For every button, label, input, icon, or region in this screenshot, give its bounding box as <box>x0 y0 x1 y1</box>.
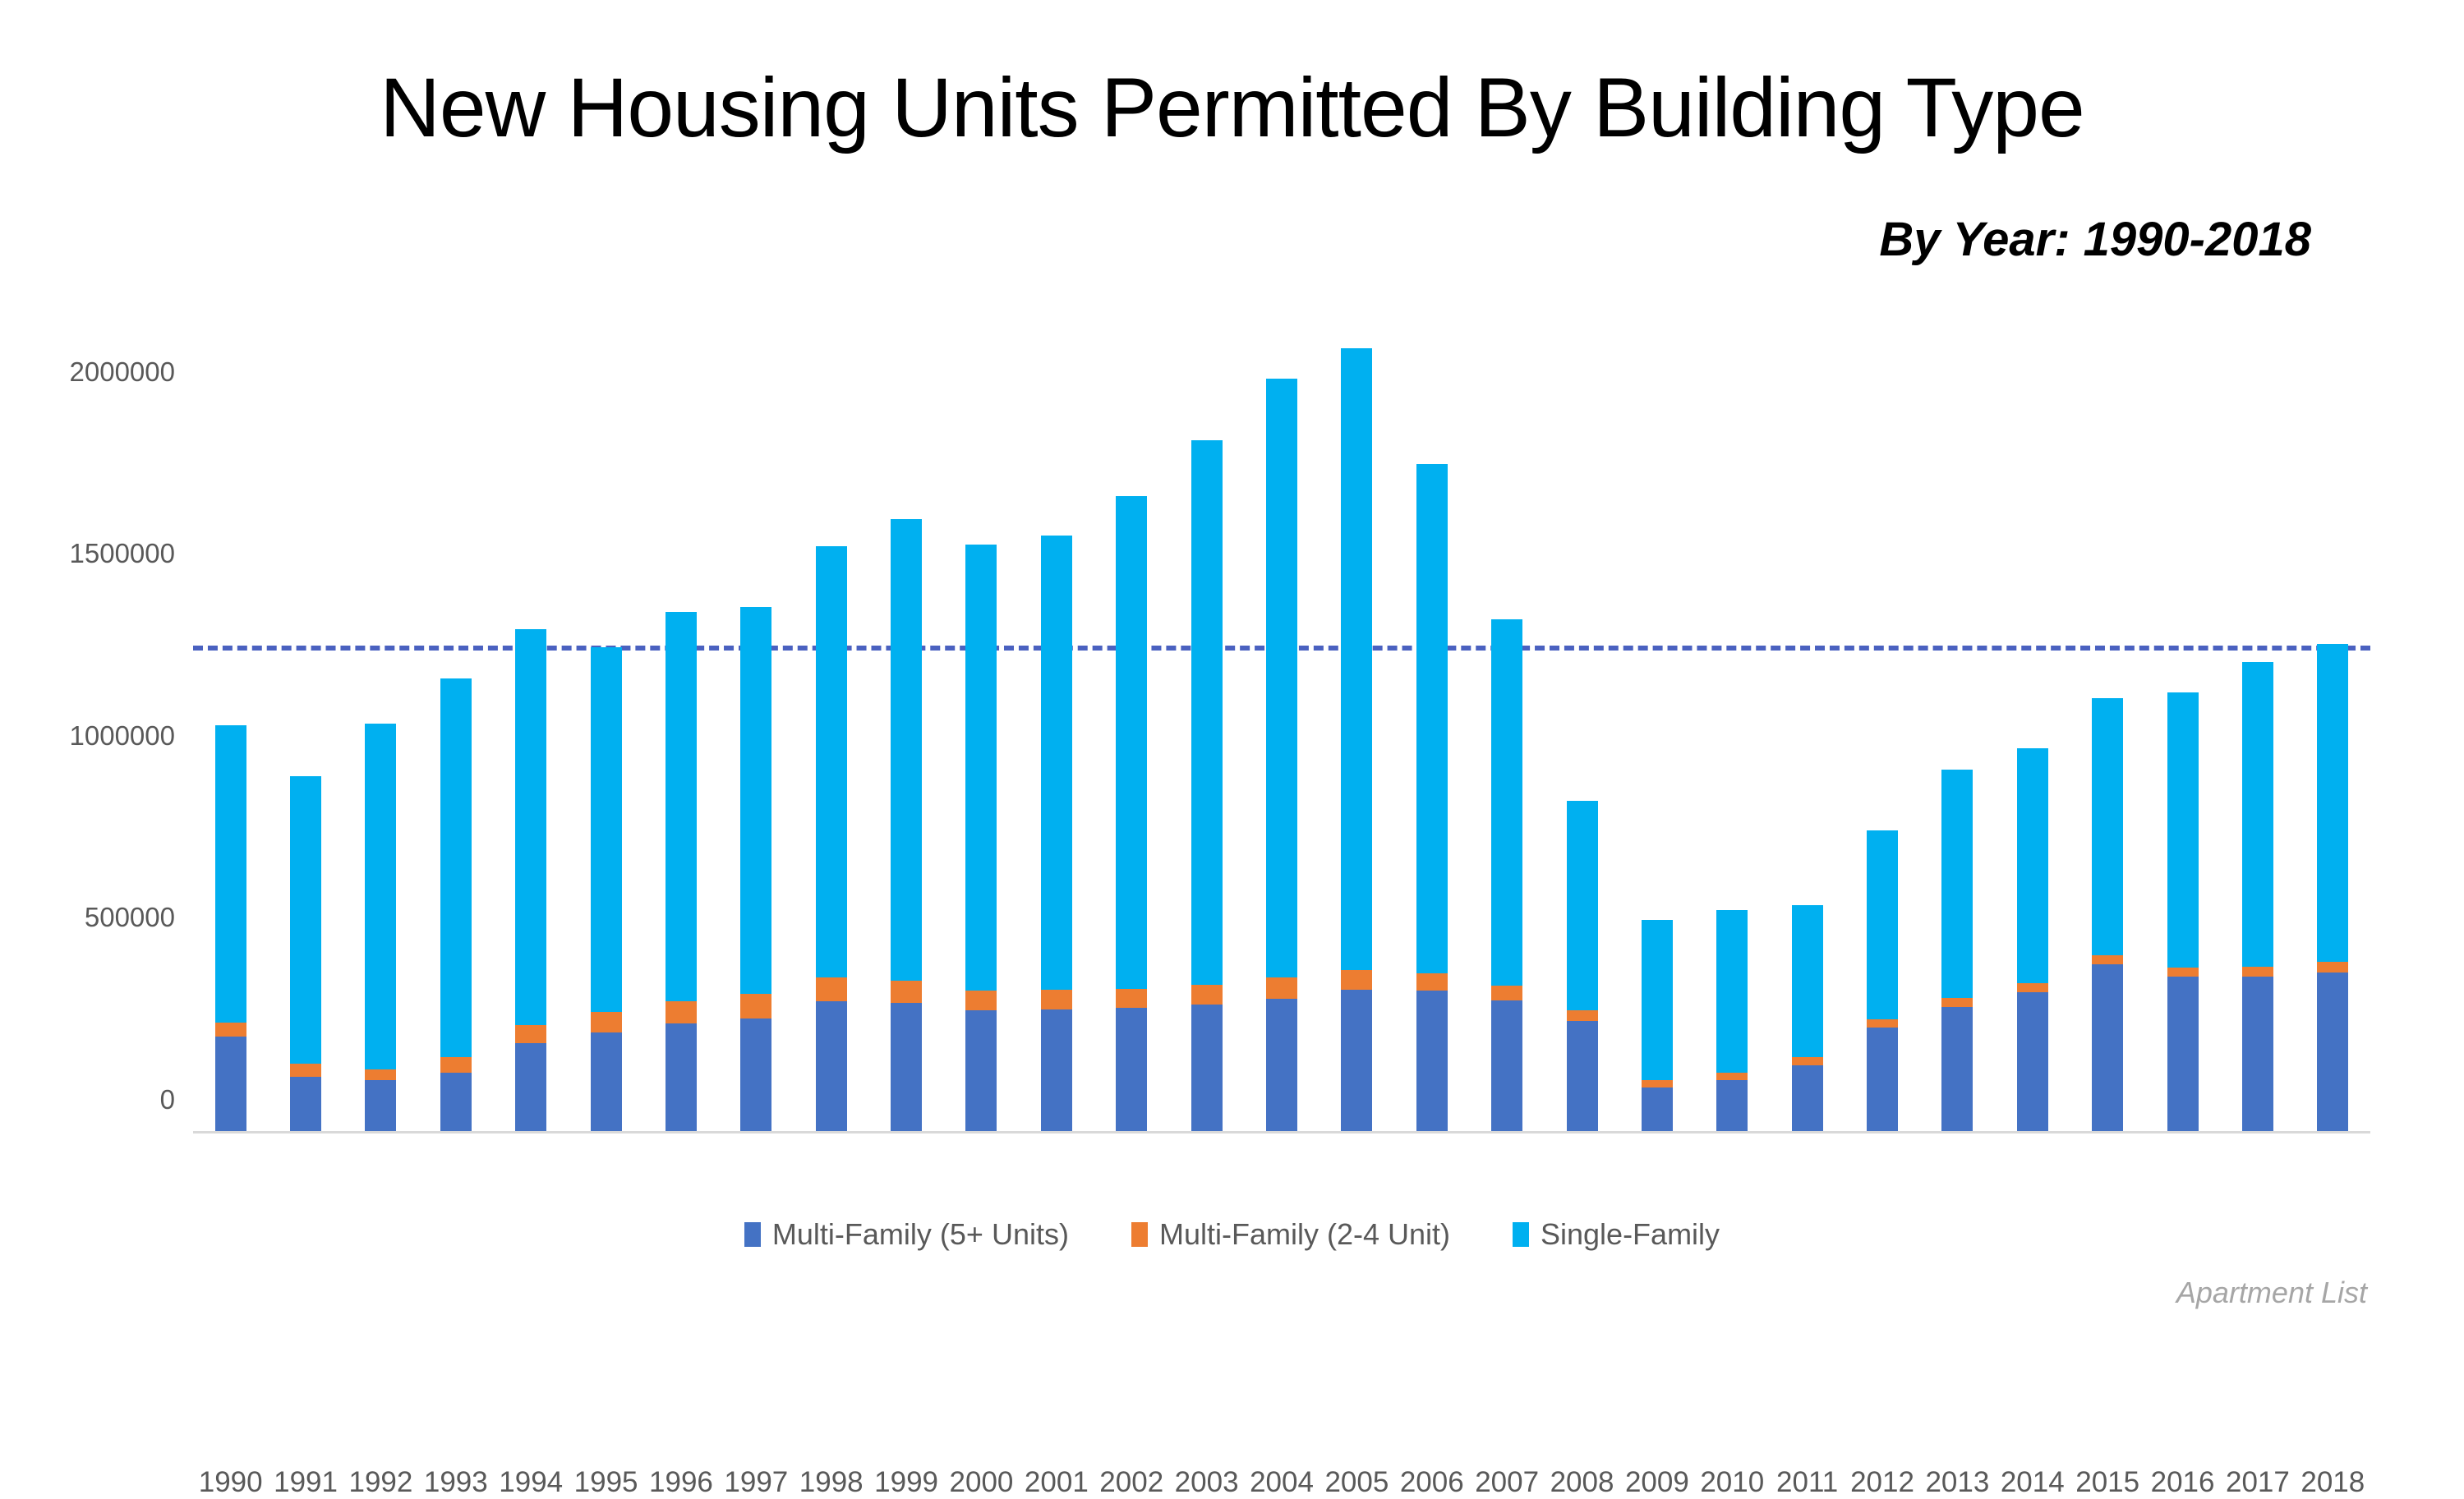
bar-segment[interactable] <box>2017 992 2048 1131</box>
bar-segment[interactable] <box>1941 770 1973 998</box>
bar-segment[interactable] <box>215 1037 246 1131</box>
x-axis-tick-label: 1998 <box>799 1466 864 1499</box>
legend-item-label: Single-Family <box>1541 1217 1720 1252</box>
x-axis-tick-label: 2017 <box>2226 1466 2290 1499</box>
bar-group[interactable] <box>816 546 847 1131</box>
bar-group[interactable] <box>1792 905 1823 1131</box>
bar-segment[interactable] <box>2167 692 2199 968</box>
bar-segment[interactable] <box>816 977 847 1001</box>
y-axis-tick-label: 500000 <box>85 902 175 933</box>
x-axis-tick-label: 1999 <box>874 1466 938 1499</box>
bar-segment[interactable] <box>591 647 622 1012</box>
x-axis-tick-label: 2016 <box>2151 1466 2215 1499</box>
bar-segment[interactable] <box>2317 644 2348 962</box>
legend-item-label: Multi-Family (5+ Units) <box>772 1217 1069 1252</box>
bar-segment[interactable] <box>1266 999 1297 1131</box>
x-axis-tick-label: 2012 <box>1850 1466 1914 1499</box>
bar-group[interactable] <box>2092 698 2123 1131</box>
bar-segment[interactable] <box>515 1025 546 1043</box>
bar-segment[interactable] <box>891 519 922 981</box>
x-axis-tick-label: 1991 <box>274 1466 338 1499</box>
bar-segment[interactable] <box>891 1003 922 1131</box>
bar-group[interactable] <box>965 545 997 1131</box>
bar-group[interactable] <box>591 647 622 1131</box>
bar-segment[interactable] <box>1341 970 1372 989</box>
bar-segment[interactable] <box>1191 440 1223 985</box>
bar-segment[interactable] <box>1041 1009 1072 1131</box>
bar-segment[interactable] <box>1716 1073 1748 1080</box>
bar-segment[interactable] <box>515 1043 546 1131</box>
bar-group[interactable] <box>1941 770 1973 1131</box>
bar-segment[interactable] <box>2317 962 2348 972</box>
bar-segment[interactable] <box>440 678 472 1056</box>
bar-segment[interactable] <box>215 725 246 1023</box>
x-axis-line <box>193 1131 2370 1133</box>
bar-segment[interactable] <box>1941 998 1973 1007</box>
x-axis-tick-label: 2018 <box>2301 1466 2365 1499</box>
bar-segment[interactable] <box>1867 1019 1898 1028</box>
bar-group[interactable] <box>440 678 472 1131</box>
x-axis-tick-label: 1994 <box>499 1466 563 1499</box>
bar-segment[interactable] <box>666 1001 697 1023</box>
bar-segment[interactable] <box>2017 748 2048 983</box>
bar-group[interactable] <box>1716 910 1748 1131</box>
bar-segment[interactable] <box>1867 830 1898 1019</box>
x-axis-tick-label: 1990 <box>199 1466 263 1499</box>
bar-segment[interactable] <box>1491 986 1522 1000</box>
bar-group[interactable] <box>290 776 321 1131</box>
y-axis-tick-label: 2000000 <box>70 356 175 388</box>
bar-segment[interactable] <box>515 629 546 1025</box>
bar-segment[interactable] <box>1416 991 1448 1131</box>
bar-segment[interactable] <box>440 1057 472 1073</box>
bar-segment[interactable] <box>1491 619 1522 985</box>
bar-segment[interactable] <box>1642 1087 1673 1131</box>
bar-segment[interactable] <box>816 546 847 977</box>
bar-segment[interactable] <box>290 776 321 1064</box>
bar-segment[interactable] <box>215 1023 246 1036</box>
bar-segment[interactable] <box>365 1080 396 1131</box>
x-axis-tick-label: 1995 <box>574 1466 638 1499</box>
bar-group[interactable] <box>2317 644 2348 1131</box>
bar-segment[interactable] <box>891 981 922 1003</box>
bar-segment[interactable] <box>365 1069 396 1081</box>
bar-group[interactable] <box>215 725 246 1131</box>
bar-segment[interactable] <box>591 1032 622 1131</box>
legend-item[interactable]: Multi-Family (2-4 Unit) <box>1131 1217 1450 1252</box>
bar-segment[interactable] <box>2167 977 2199 1131</box>
bar-group[interactable] <box>365 724 396 1131</box>
bar-group[interactable] <box>2242 662 2273 1131</box>
bar-segment[interactable] <box>1116 989 1147 1008</box>
bar-group[interactable] <box>1491 619 1522 1131</box>
page-title: New Housing Units Permitted By Building … <box>0 64 2464 152</box>
bar-segment[interactable] <box>290 1077 321 1131</box>
bar-segment[interactable] <box>1792 1065 1823 1131</box>
bar-segment[interactable] <box>2317 973 2348 1131</box>
x-axis-tick-label: 2001 <box>1025 1466 1089 1499</box>
bar-segment[interactable] <box>1567 1010 1598 1021</box>
bar-segment[interactable] <box>365 724 396 1069</box>
chart-legend: Multi-Family (5+ Units)Multi-Family (2-4… <box>0 1217 2464 1252</box>
bar-segment[interactable] <box>1716 910 1748 1073</box>
bar-segment[interactable] <box>1266 977 1297 999</box>
bar-segment[interactable] <box>440 1073 472 1131</box>
x-axis-tick-label: 2003 <box>1175 1466 1239 1499</box>
bar-segment[interactable] <box>1341 990 1372 1131</box>
x-axis-tick-label: 1996 <box>649 1466 713 1499</box>
legend-swatch-icon <box>1513 1222 1529 1247</box>
bar-segment[interactable] <box>965 545 997 990</box>
y-axis-tick-label: 1000000 <box>70 720 175 752</box>
y-axis-tick-label: 0 <box>160 1084 175 1115</box>
bar-segment[interactable] <box>290 1064 321 1077</box>
bar-segment[interactable] <box>1116 496 1147 989</box>
bar-group[interactable] <box>1041 536 1072 1131</box>
x-axis-tick-label: 2008 <box>1550 1466 1614 1499</box>
bar-segment[interactable] <box>1567 801 1598 1010</box>
bar-group[interactable] <box>1416 464 1448 1131</box>
x-axis-tick-label: 2015 <box>2075 1466 2139 1499</box>
bar-segment[interactable] <box>2167 968 2199 977</box>
bar-segment[interactable] <box>1792 1057 1823 1065</box>
bar-segment[interactable] <box>1642 920 1673 1080</box>
bar-segment[interactable] <box>1716 1080 1748 1131</box>
bar-segment[interactable] <box>1191 1005 1223 1131</box>
bar-series-layer <box>193 330 2370 1131</box>
x-axis-tick-label: 2011 <box>1776 1466 1838 1499</box>
x-axis-tick-label: 2002 <box>1099 1466 1163 1499</box>
bar-group[interactable] <box>891 519 922 1131</box>
bar-group[interactable] <box>1341 348 1372 1131</box>
y-axis-tick-label: 1500000 <box>70 538 175 569</box>
bar-segment[interactable] <box>1867 1028 1898 1131</box>
x-axis-tick-label: 2013 <box>1925 1466 1989 1499</box>
chart-slide: New Housing Units Permitted By Building … <box>0 0 2464 1386</box>
bar-segment[interactable] <box>2242 662 2273 967</box>
x-axis-tick-label: 2007 <box>1475 1466 1539 1499</box>
bar-segment[interactable] <box>1491 1000 1522 1131</box>
bar-segment[interactable] <box>2242 977 2273 1131</box>
bar-segment[interactable] <box>816 1001 847 1131</box>
bar-segment[interactable] <box>591 1012 622 1032</box>
bar-segment[interactable] <box>740 994 771 1018</box>
bar-segment[interactable] <box>666 1023 697 1131</box>
bar-segment[interactable] <box>740 1018 771 1131</box>
bar-segment[interactable] <box>1041 536 1072 991</box>
x-axis-tick-label: 2004 <box>1250 1466 1314 1499</box>
bar-segment[interactable] <box>965 1010 997 1131</box>
x-axis-tick-label: 2006 <box>1400 1466 1464 1499</box>
legend-item[interactable]: Single-Family <box>1513 1217 1720 1252</box>
bar-segment[interactable] <box>1041 990 1072 1009</box>
source-credit: Apartment List <box>2176 1276 2367 1310</box>
bar-group[interactable] <box>2167 692 2199 1131</box>
bar-group[interactable] <box>1642 920 1673 1131</box>
bar-segment[interactable] <box>666 612 697 1002</box>
chart-subtitle: By Year: 1990-2018 <box>1879 212 2311 267</box>
x-axis-tick-label: 1997 <box>724 1466 788 1499</box>
bar-segment[interactable] <box>2092 955 2123 965</box>
bar-segment[interactable] <box>1416 464 1448 973</box>
bar-segment[interactable] <box>965 991 997 1011</box>
bar-group[interactable] <box>1567 801 1598 1131</box>
x-axis-tick-label: 2010 <box>1700 1466 1764 1499</box>
bar-group[interactable] <box>666 612 697 1131</box>
bar-segment[interactable] <box>1567 1021 1598 1131</box>
bar-segment[interactable] <box>1191 985 1223 1005</box>
legend-item-label: Multi-Family (2-4 Unit) <box>1159 1217 1450 1252</box>
x-axis-tick-label: 1992 <box>349 1466 413 1499</box>
bar-segment[interactable] <box>740 607 771 994</box>
x-axis-tick-label: 2009 <box>1625 1466 1689 1499</box>
x-axis-tick-label: 2000 <box>950 1466 1014 1499</box>
bar-segment[interactable] <box>1341 348 1372 970</box>
legend-swatch-icon <box>1131 1222 1148 1247</box>
bar-segment[interactable] <box>1116 1008 1147 1131</box>
bar-segment[interactable] <box>1792 905 1823 1057</box>
plot-area: 0500000100000015000002000000 19901991199… <box>193 329 2370 1133</box>
x-axis-tick-label: 1993 <box>424 1466 488 1499</box>
x-axis-tick-label: 2005 <box>1324 1466 1389 1499</box>
bar-segment[interactable] <box>1941 1007 1973 1131</box>
bar-segment[interactable] <box>2092 698 2123 955</box>
bar-group[interactable] <box>740 607 771 1131</box>
bar-segment[interactable] <box>2242 967 2273 977</box>
bar-group[interactable] <box>1867 830 1898 1131</box>
bar-segment[interactable] <box>2092 964 2123 1131</box>
bar-group[interactable] <box>1116 496 1147 1131</box>
bar-group[interactable] <box>2017 748 2048 1131</box>
legend-swatch-icon <box>744 1222 761 1247</box>
bar-group[interactable] <box>515 629 546 1131</box>
bar-segment[interactable] <box>1642 1080 1673 1087</box>
bar-group[interactable] <box>1191 440 1223 1131</box>
bar-segment[interactable] <box>2017 983 2048 992</box>
legend-item[interactable]: Multi-Family (5+ Units) <box>744 1217 1069 1252</box>
x-axis-tick-label: 2014 <box>2001 1466 2065 1499</box>
bar-group[interactable] <box>1266 379 1297 1131</box>
bar-segment[interactable] <box>1416 973 1448 991</box>
bar-segment[interactable] <box>1266 379 1297 977</box>
